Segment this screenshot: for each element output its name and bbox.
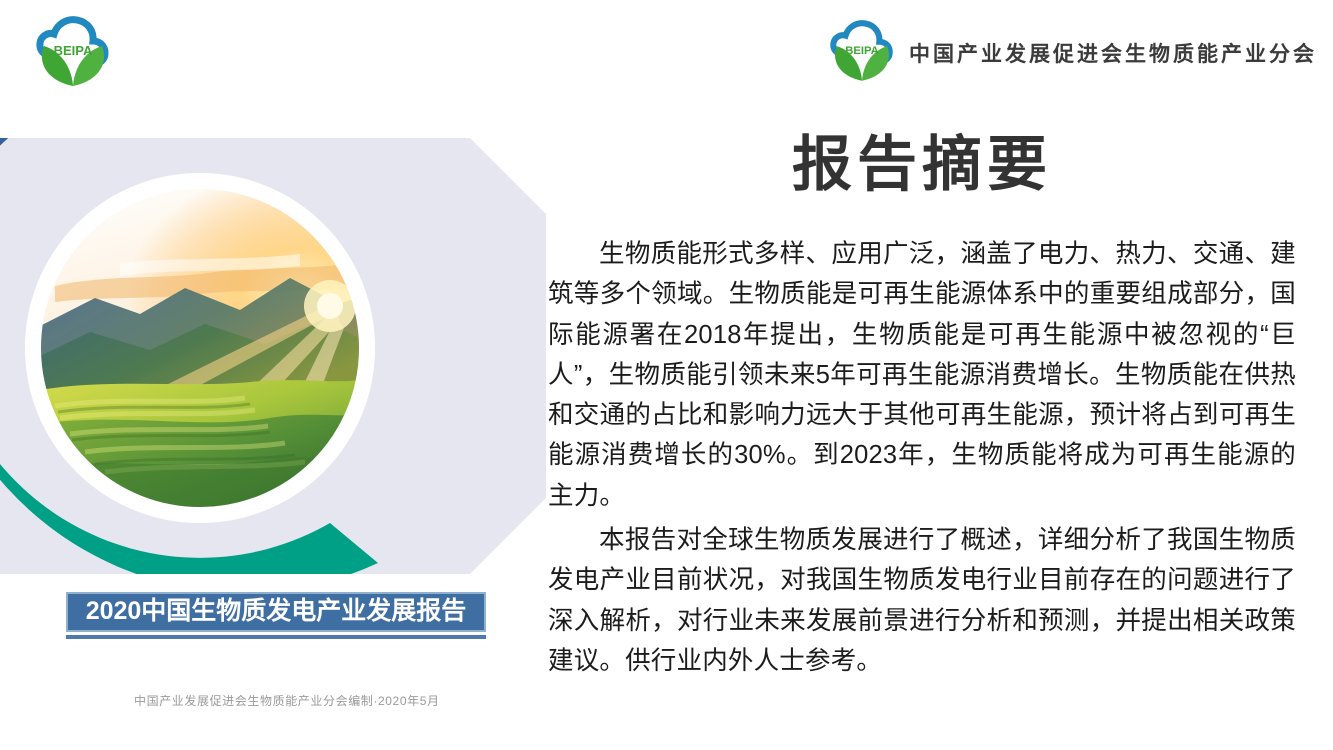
beipa-logo-icon: BEIPA [28, 12, 118, 96]
footer-credit: 中国产业发展促进会生物质能产业分会编制·2020年5月 [134, 692, 440, 709]
logo-wordmark-small: BEIPA [845, 45, 879, 57]
summary-paragraph-1: 生物质能形式多样、应用广泛，涵盖了电力、热力、交通、建筑等多个领域。生物质能是可… [548, 234, 1296, 516]
report-title-underline [66, 635, 486, 639]
hero-composition-svg [0, 138, 546, 574]
beipa-logo-icon-small: BEIPA [823, 16, 901, 90]
header-branding: BEIPA 中国产业发展促进会生物质能产业分会 [823, 14, 1323, 92]
organization-name: 中国产业发展促进会生物质能产业分会 [909, 38, 1323, 68]
beipa-logo-mark-small: BEIPA [823, 16, 901, 90]
hero-graphic [0, 138, 546, 574]
logo-wordmark: BEIPA [54, 43, 93, 58]
page-title: 报告摘要 [548, 132, 1296, 198]
report-title-banner: 2020中国生物质发电产业发展报告 [66, 592, 486, 639]
beipa-logo-mark: BEIPA [28, 12, 118, 96]
summary-content: 报告摘要 生物质能形式多样、应用广泛，涵盖了电力、热力、交通、建筑等多个领域。生… [548, 132, 1296, 685]
report-title-label: 2020中国生物质发电产业发展报告 [66, 592, 486, 632]
summary-paragraph-2: 本报告对全球生物质发展进行了概述，详细分析了我国生物质发电产业目前状况，对我国生… [548, 520, 1296, 681]
hero-photo [40, 188, 360, 508]
